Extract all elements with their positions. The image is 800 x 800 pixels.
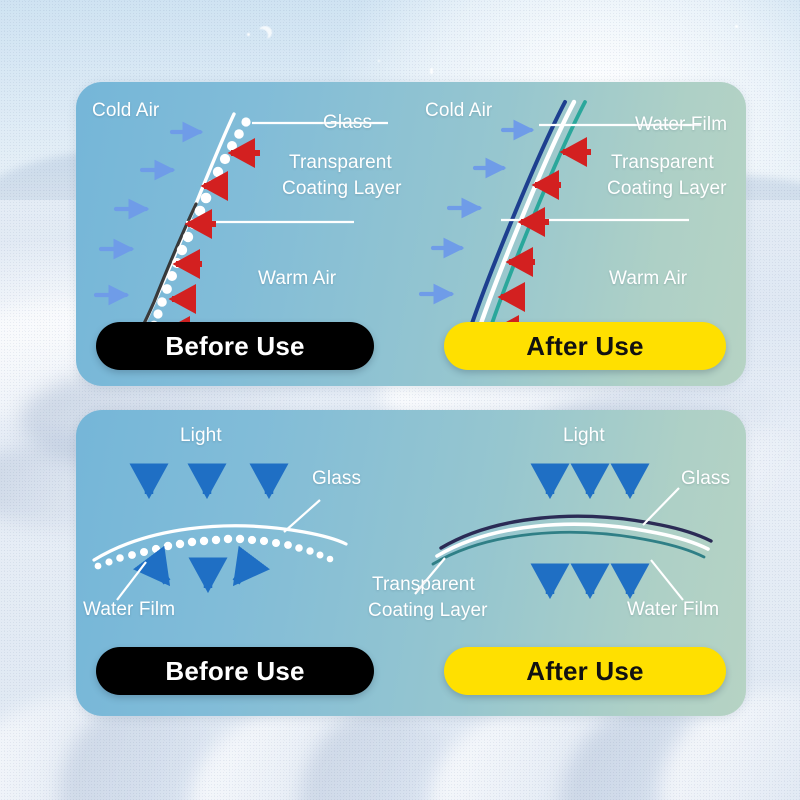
coating-arc (433, 532, 704, 564)
incoming-light-arrows (550, 468, 630, 494)
glass-curve (140, 114, 234, 332)
label-transparent-coating-2: Coating Layer (282, 177, 402, 200)
glass-leader-line (284, 500, 320, 532)
card-light-transmission: Light Glass Water Film Before Use (76, 410, 746, 716)
label-water-film: Water Film (83, 598, 175, 621)
warm-air-arrows (166, 153, 260, 331)
card-anti-fog: Cold Air Glass Transparent Coating Layer… (76, 82, 746, 386)
label-transparent-coating-1: Transparent (372, 573, 475, 596)
glass-leader-line (643, 488, 679, 525)
label-water-film: Water Film (627, 598, 719, 621)
label-light: Light (180, 424, 222, 447)
label-transparent-coating-1: Transparent (289, 151, 392, 174)
coating-curve (487, 102, 585, 338)
label-transparent-coating-2: Coating Layer (607, 177, 727, 200)
warm-air-arrows (495, 152, 591, 330)
pill-before-use-fog-label: Before Use (165, 331, 304, 362)
label-glass: Glass (681, 467, 730, 490)
sparkle-4 (430, 68, 433, 74)
pill-before-use-light[interactable]: Before Use (96, 647, 374, 695)
cold-air-arrows (96, 132, 200, 295)
glass-curve (467, 102, 565, 338)
incoming-light-arrows (149, 467, 269, 494)
pill-after-use-fog-label: After Use (526, 331, 643, 362)
pill-before-use-light-label: Before Use (165, 656, 304, 687)
label-glass: Glass (323, 111, 372, 134)
pill-after-use-fog[interactable]: After Use (444, 322, 726, 370)
pill-after-use-light[interactable]: After Use (444, 647, 726, 695)
label-glass: Glass (312, 467, 361, 490)
outgoing-light-arrows (550, 565, 630, 594)
water-film-leader-line (651, 560, 683, 600)
label-light: Light (563, 424, 605, 447)
sparkle-2 (247, 33, 250, 36)
product-infographic: Cold Air Glass Transparent Coating Layer… (0, 0, 800, 800)
pill-after-use-light-label: After Use (526, 656, 643, 687)
cold-air-arrows (421, 130, 531, 294)
water-film-curve (476, 102, 574, 338)
label-warm-air: Warm Air (609, 267, 687, 290)
sparkle-5 (735, 25, 738, 28)
panel-before-fog: Cold Air Glass Transparent Coating Layer… (76, 82, 411, 386)
label-transparent-coating-1: Transparent (611, 151, 714, 174)
pill-before-use-fog[interactable]: Before Use (96, 322, 374, 370)
sparkle-3 (378, 60, 380, 62)
label-transparent-coating-2: Coating Layer (368, 599, 488, 622)
sparkle-6 (258, 26, 272, 39)
water-film-leader-line (117, 562, 146, 600)
panel-before-light: Light Glass Water Film Before Use (76, 410, 411, 716)
panel-after-light: Light Glass Transparent Coating Layer Wa… (411, 410, 746, 716)
glass-curve-dark (139, 204, 196, 333)
label-water-film: Water Film (635, 113, 727, 136)
water-film-arc (437, 524, 708, 556)
label-cold-air: Cold Air (425, 99, 492, 122)
panel-after-fog: Cold Air Water Film Transparent Coating … (411, 82, 746, 386)
glass-arc (94, 526, 346, 560)
glass-arc (441, 516, 711, 548)
scattered-light-arrows (149, 558, 254, 588)
label-warm-air: Warm Air (258, 267, 336, 290)
label-cold-air: Cold Air (92, 99, 159, 122)
fog-droplets (147, 117, 251, 339)
fog-droplets (95, 535, 334, 570)
